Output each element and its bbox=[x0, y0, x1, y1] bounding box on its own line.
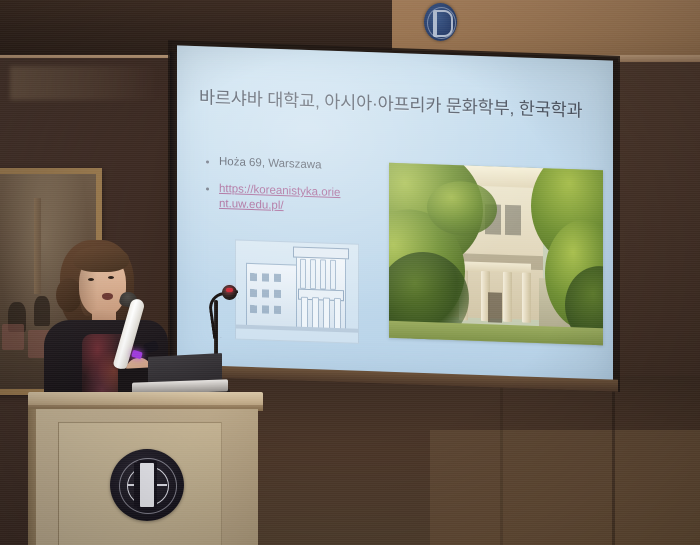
presenter-eye bbox=[108, 276, 114, 279]
gooseneck-mic-led-indicator bbox=[226, 288, 233, 292]
sketch-window bbox=[250, 273, 257, 281]
podium-emblem-letter bbox=[140, 463, 154, 507]
sketch-column bbox=[323, 297, 330, 329]
wall-panel-seam bbox=[500, 376, 503, 545]
sketch-pediment bbox=[293, 246, 349, 259]
slide-bullet-list: Hoża 69, Warszawa https://koreanistyka.o… bbox=[203, 154, 383, 229]
presenter-eye bbox=[88, 278, 94, 281]
presentation-scene-photo: 바르샤바 대학교, 아시아·아프리카 문화학부, 한국학과 Hoża 69, W… bbox=[0, 0, 700, 545]
wall-light-reflection bbox=[10, 66, 160, 100]
slide-bullet-link[interactable]: https://koreanistyka.orie nt.uw.edu.pl/ bbox=[203, 181, 383, 217]
lower-wall-lit-area bbox=[430, 430, 700, 545]
sketch-column bbox=[334, 298, 341, 330]
sketch-window bbox=[250, 289, 257, 297]
sketch-upper-column bbox=[300, 259, 306, 289]
sketch-window bbox=[274, 274, 281, 282]
university-wall-emblem-icon bbox=[424, 3, 457, 41]
photo-entrance-door bbox=[488, 292, 502, 322]
building-line-drawing-image bbox=[235, 239, 359, 343]
sketch-window bbox=[274, 290, 281, 298]
emblem-ring bbox=[427, 7, 456, 39]
slide-link-line-2: nt.uw.edu.pl/ bbox=[219, 198, 284, 212]
sketch-window bbox=[262, 289, 269, 297]
presenter-mouth bbox=[102, 293, 113, 300]
painting-chair bbox=[2, 324, 24, 350]
sketch-window bbox=[250, 305, 257, 313]
sketch-upper-column bbox=[320, 259, 326, 289]
sketch-upper-column bbox=[310, 259, 316, 289]
slide-link-line-1: https://koreanistyka.orie bbox=[219, 183, 340, 199]
photo-window bbox=[505, 205, 521, 236]
wall-panel-seam bbox=[612, 376, 615, 545]
building-photo-image bbox=[389, 163, 603, 345]
sketch-window bbox=[274, 306, 281, 314]
sketch-upper-column bbox=[330, 260, 336, 290]
presenter-fringe bbox=[73, 246, 129, 272]
slide-title: 바르샤바 대학교, 아시아·아프리카 문화학부, 한국학과 bbox=[199, 84, 599, 123]
sketch-window bbox=[262, 305, 269, 313]
sketch-window bbox=[262, 273, 269, 281]
sketch-column bbox=[312, 297, 319, 329]
upper-wall-dark-gradient bbox=[0, 0, 392, 26]
photo-column bbox=[503, 272, 512, 322]
sketch-column bbox=[301, 297, 308, 329]
slide-bullet-address: Hoża 69, Warszawa bbox=[203, 154, 383, 175]
university-podium-emblem-icon bbox=[110, 449, 184, 521]
photo-column bbox=[522, 272, 531, 322]
